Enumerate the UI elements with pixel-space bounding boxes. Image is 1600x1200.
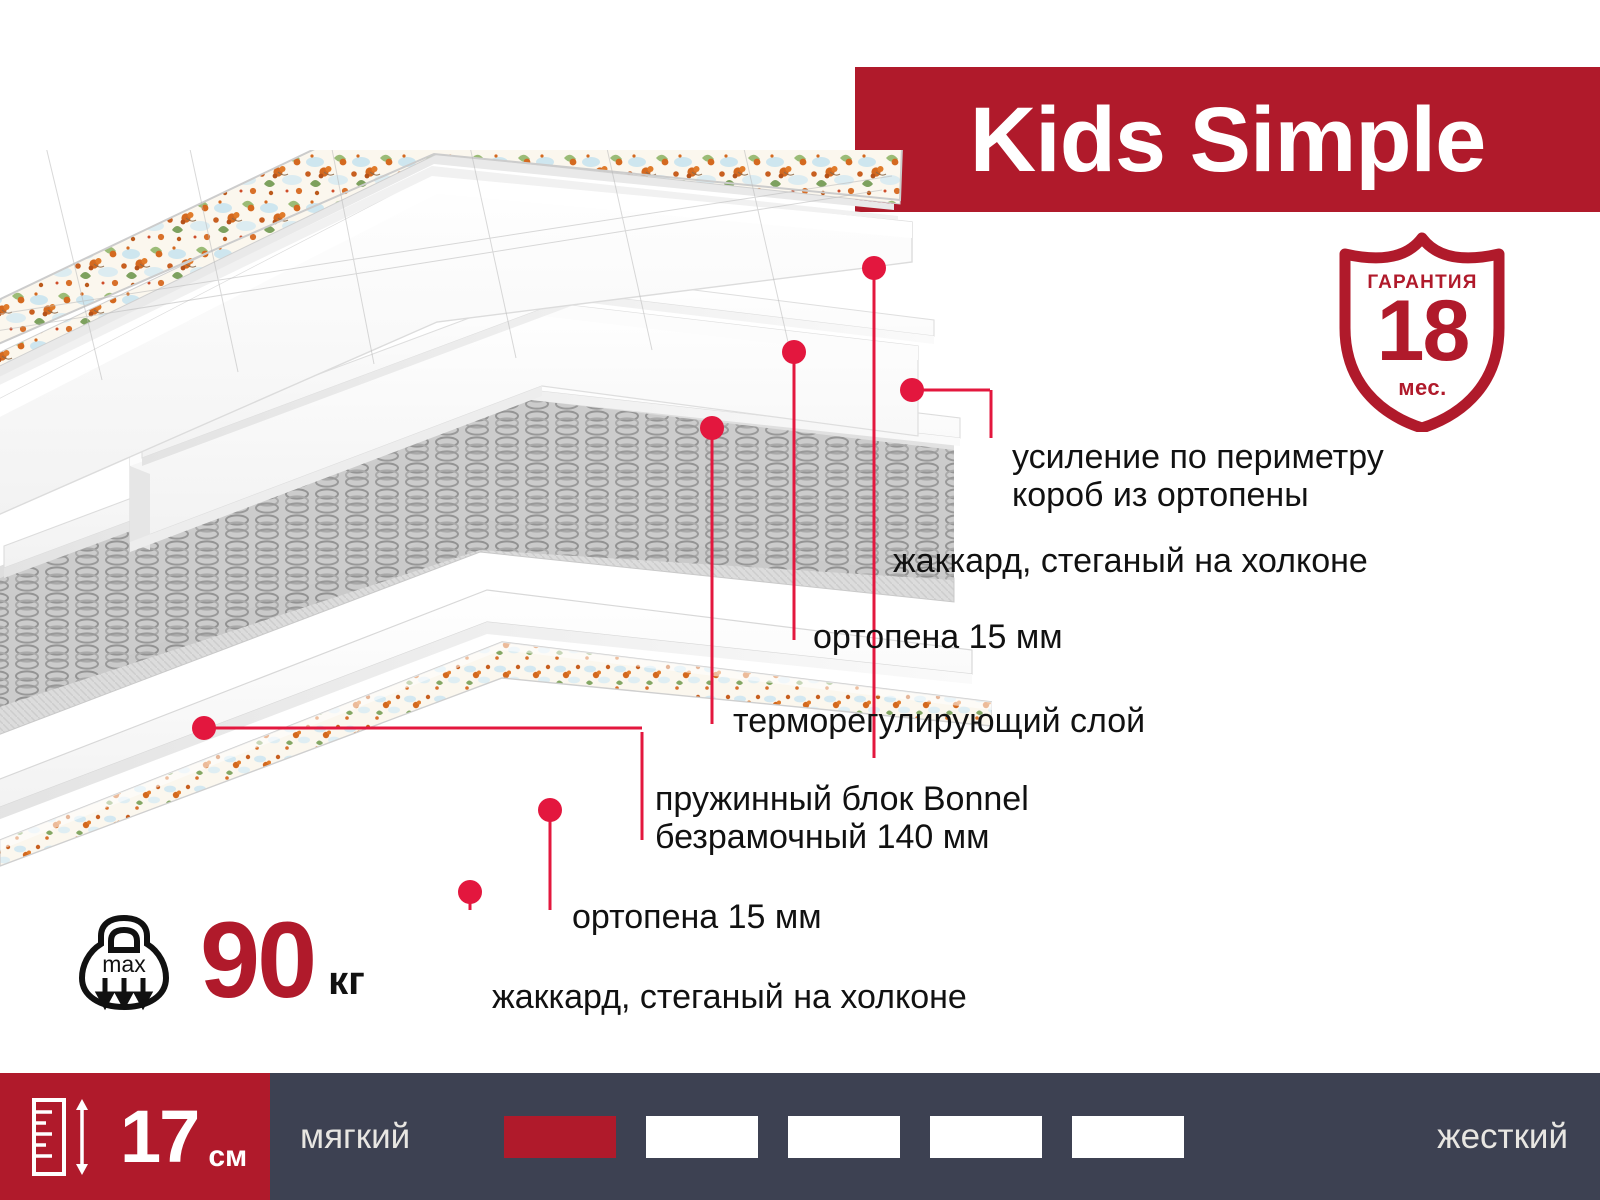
callout-thermo: терморегулирующий слой <box>733 702 1145 740</box>
bottom-summary-bar: 17 см мягкий жесткий <box>0 1073 1600 1200</box>
warranty-badge: ГАРАНТИЯ 18 мес. <box>1335 232 1510 432</box>
warranty-months-value: 18 <box>1335 288 1510 374</box>
firmness-hard-label: жесткий <box>1437 1117 1568 1157</box>
max-label: max <box>102 951 146 977</box>
kettlebell-max-icon: max <box>78 908 170 1012</box>
max-weight-unit: кг <box>328 959 365 1014</box>
max-weight-value: 90 <box>200 906 314 1014</box>
callout-ortofoam-bottom: ортопена 15 мм <box>572 898 822 936</box>
callout-spring-block: пружинный блок Bonnel безрамочный 140 мм <box>655 780 1029 856</box>
firmness-segments <box>504 1116 1184 1158</box>
height-unit: см <box>208 1140 247 1200</box>
firmness-scale: мягкий жесткий <box>270 1073 1600 1200</box>
firmness-segment-3 <box>788 1116 900 1158</box>
height-block: 17 см <box>0 1073 270 1200</box>
firmness-segment-1 <box>504 1116 616 1158</box>
height-value: 17 <box>120 1100 198 1174</box>
infographic-canvas: Kids Simple ГАРАНТИЯ 18 мес. <box>0 0 1600 1200</box>
warranty-unit: мес. <box>1335 375 1510 401</box>
max-weight-block: max 90 кг <box>78 906 365 1014</box>
firmness-segment-4 <box>930 1116 1042 1158</box>
firmness-soft-label: мягкий <box>300 1117 410 1157</box>
callout-ortofoam-top: ортопена 15 мм <box>813 618 1063 656</box>
callout-jacquard-bottom: жаккард, стеганый на холконе <box>492 978 967 1016</box>
firmness-segment-5 <box>1072 1116 1184 1158</box>
firmness-segment-2 <box>646 1116 758 1158</box>
callout-jacquard-top: жаккард, стеганый на холконе <box>893 542 1368 580</box>
page-title: Kids Simple <box>970 94 1486 186</box>
ruler-icon <box>30 1096 102 1178</box>
callout-perimeter: усиление по периметру короб из ортопены <box>1012 438 1384 514</box>
